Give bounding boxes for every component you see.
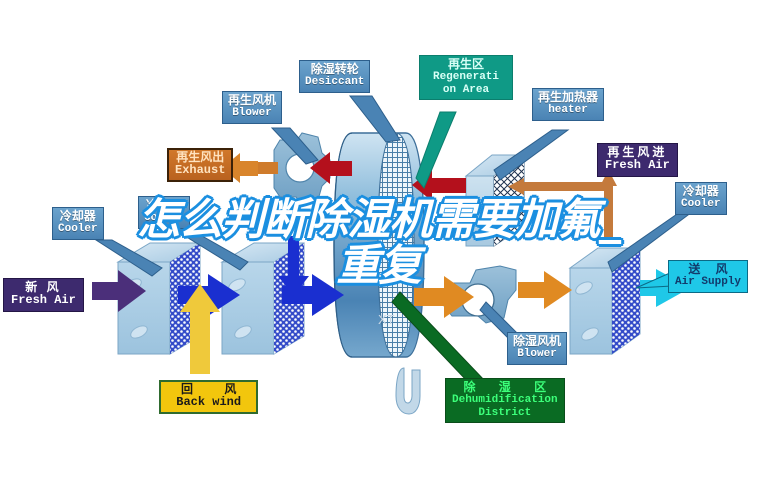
label-dehum-district-en1: Dehumidification — [452, 394, 558, 406]
label-air-supply: 送 风 Air Supply — [668, 260, 748, 293]
label-desiccant-en: Desiccant — [305, 76, 364, 88]
label-cooler-middle: 冷却器 Cooler — [138, 196, 190, 229]
diagram-canvas: XT 除湿转轮 Desiccant 再生风机 Blower 再生区 Regene… — [0, 0, 757, 488]
label-dehum-blower-cn: 除湿风机 — [513, 335, 561, 348]
label-dehum-district-cn: 除 湿 区 — [452, 381, 558, 394]
label-dehumidification-blower: 除湿风机 Blower — [507, 332, 567, 365]
label-regeneration-heater: 再生加热器 heater — [532, 88, 604, 121]
label-desiccant-cn: 除湿转轮 — [305, 63, 364, 76]
label-regen-heater-en: heater — [538, 104, 598, 116]
label-back-wind-en: Back wind — [167, 396, 250, 409]
label-back-wind: 回 风 Back wind — [159, 380, 258, 414]
label-regen-blower-en: Blower — [228, 107, 276, 119]
label-cooler-left-cn: 冷却器 — [58, 210, 98, 223]
label-exhaust-cn: 再生风出 — [175, 151, 225, 164]
label-fresh-air-process-en: Fresh Air — [11, 294, 76, 307]
label-cooler-middle-en: Cooler — [144, 212, 184, 224]
label-desiccant: 除湿转轮 Desiccant — [299, 60, 370, 93]
label-regeneration-area: 再生区 Regenerati on Area — [419, 55, 513, 100]
label-air-supply-en: Air Supply — [675, 276, 741, 288]
label-fresh-air-regen-en: Fresh Air — [605, 159, 670, 172]
label-regen-area-en: Regenerati on Area — [425, 71, 507, 96]
label-regen-blower-cn: 再生风机 — [228, 94, 276, 107]
arrow-dehum-2 — [518, 271, 572, 309]
label-dehum-blower-en: Blower — [513, 348, 561, 360]
label-dehumidification-district: 除 湿 区 Dehumidification District — [445, 378, 565, 423]
label-exhaust-en: Exhaust — [175, 164, 225, 177]
label-regen-heater-cn: 再生加热器 — [538, 91, 598, 104]
label-cooler-right-cn: 冷却器 — [681, 185, 721, 198]
label-exhaust: 再生风出 Exhaust — [167, 148, 233, 182]
label-cooler-left-en: Cooler — [58, 223, 98, 235]
cooler-unit-3 — [570, 248, 640, 354]
label-cooler-left: 冷却器 Cooler — [52, 207, 104, 240]
label-back-wind-cn: 回 风 — [167, 383, 250, 396]
label-fresh-air-process-cn: 新 风 — [11, 281, 76, 294]
label-fresh-air-process: 新 风 Fresh Air — [3, 278, 84, 312]
label-fresh-air-regen: 再生风进 Fresh Air — [597, 143, 678, 177]
label-regeneration-blower: 再生风机 Blower — [222, 91, 282, 124]
dehumidifier-schematic: XT — [0, 0, 757, 488]
label-regen-area-cn: 再生区 — [425, 58, 507, 71]
label-cooler-right-en: Cooler — [681, 198, 721, 210]
label-cooler-right: 冷却器 Cooler — [675, 182, 727, 215]
label-air-supply-cn: 送 风 — [675, 263, 741, 276]
label-cooler-middle-cn: 冷却器 — [144, 199, 184, 212]
svg-text:XT: XT — [378, 312, 395, 327]
label-fresh-air-regen-cn: 再生风进 — [605, 146, 670, 159]
label-dehum-district-en2: District — [452, 407, 558, 419]
